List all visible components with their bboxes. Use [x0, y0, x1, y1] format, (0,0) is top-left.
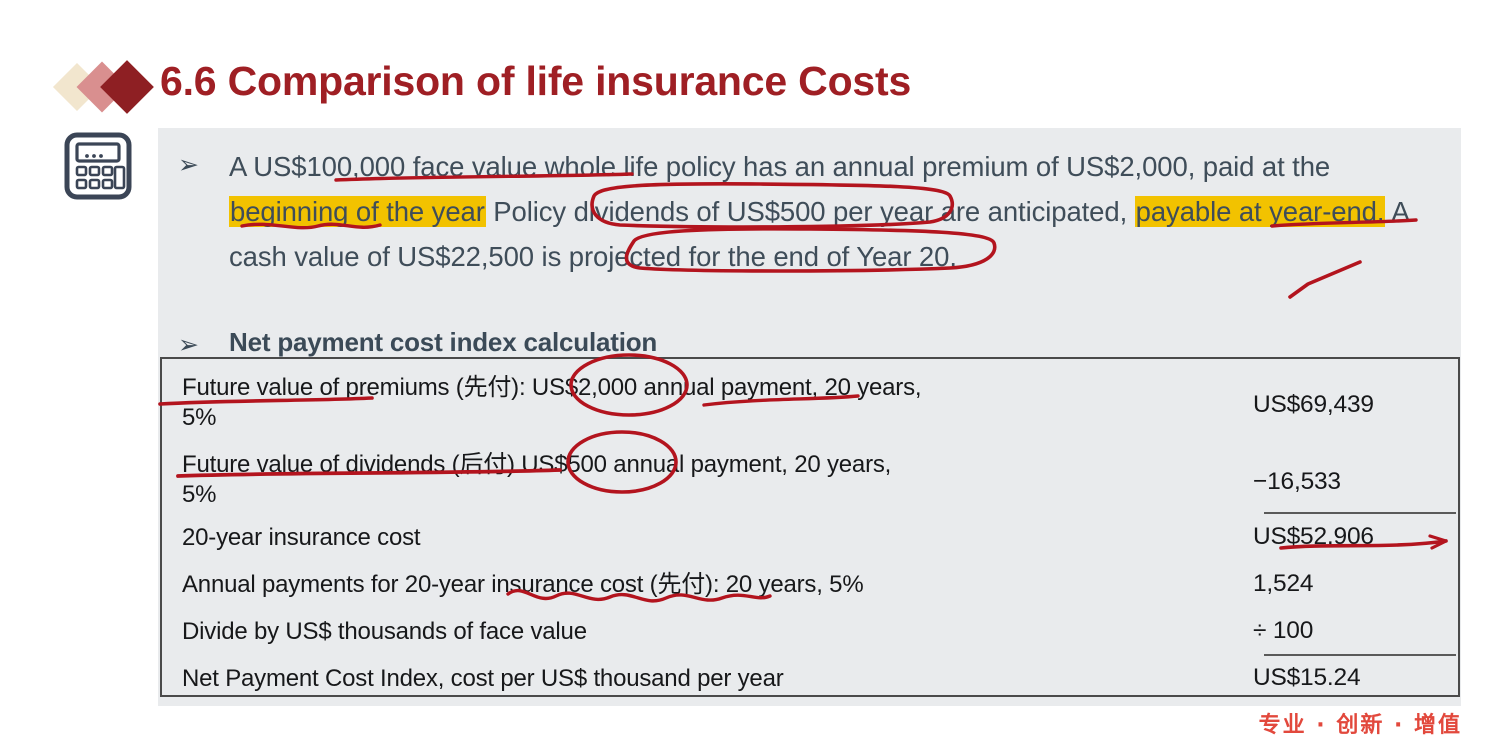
table-row-5-value: ÷ 100: [1217, 617, 1458, 645]
table-rule-2: [1264, 654, 1456, 656]
para-seg-11: US$22,500: [397, 241, 534, 272]
subheading-net-payment-cost-index: Net payment cost index calculation: [229, 327, 657, 358]
para-seg-1: US$100,000 face value: [253, 151, 537, 182]
table-row-5-label: Divide by US$ thousands of face value: [162, 617, 1262, 647]
row2-text-line2: 5%: [182, 481, 216, 508]
calculator-icon: [62, 130, 134, 202]
para-seg-4: , paid at the: [1188, 151, 1330, 182]
table-row: Net Payment Cost Index, cost per US$ tho…: [162, 664, 1458, 694]
table-row-4-label: Annual payments for 20-year insurance co…: [162, 570, 1262, 600]
table-row-6-value: US$15.24: [1217, 664, 1458, 692]
table-row-1-label: Future value of premiums (先付): US$2,000 …: [162, 373, 1262, 433]
row2-text-a: Future value of dividends: [182, 451, 452, 478]
table-row-1-value: US$69,439: [1217, 391, 1458, 419]
table-row: Future value of dividends (后付) US$500 an…: [162, 450, 1458, 510]
row1-text-b: (先付): [456, 374, 519, 401]
table-row: Divide by US$ thousands of face value ÷ …: [162, 617, 1458, 647]
table-row: 20-year insurance cost US$52,906: [162, 523, 1458, 553]
bullet-marker-1: ➢: [178, 150, 199, 180]
para-seg-7: US$500: [727, 196, 826, 227]
para-seg-5-highlight: beginning of the year: [229, 196, 486, 227]
para-seg-2: whole life policy has an annual premium …: [537, 151, 1066, 182]
row1-text-line2: 5%: [182, 404, 216, 431]
table-row-4-value: 1,524: [1217, 570, 1458, 598]
row4-text-c: : 20 years, 5%: [713, 571, 864, 598]
para-seg-6: Policy dividends of: [486, 196, 727, 227]
table-row-3-label: 20-year insurance cost: [162, 523, 1262, 553]
table-row-2-value: −16,533: [1217, 468, 1458, 496]
row1-text-c: : US$2,000 annual payment, 20 years,: [519, 374, 921, 401]
table-row-6-label: Net Payment Cost Index, cost per US$ tho…: [162, 664, 1262, 694]
table-row: Annual payments for 20-year insurance co…: [162, 570, 1458, 600]
row1-text-a: Future value of premiums: [182, 374, 456, 401]
para-seg-9-highlight: payable at year-end.: [1135, 196, 1386, 227]
table-rule-1: [1264, 512, 1456, 514]
cost-index-table: Future value of premiums (先付): US$2,000 …: [160, 357, 1460, 697]
bullet-marker-2: ➢: [178, 330, 199, 360]
footer-slogan: 专业 · 创新 · 增值: [1259, 707, 1462, 739]
table-row-3-value: US$52,906: [1217, 523, 1458, 551]
slide-canvas: 6.6 Comparison of life insurance Costs ➢…: [0, 0, 1500, 750]
row4-text-a: Annual payments for 20-year insurance co…: [182, 571, 650, 598]
row2-text-c: US$500 annual payment, 20 years,: [515, 451, 891, 478]
table-row: Future value of premiums (先付): US$2,000 …: [162, 373, 1458, 433]
para-seg-3: US$2,000: [1066, 151, 1188, 182]
three-diamonds-logo: [48, 56, 168, 118]
intro-paragraph: A US$100,000 face value whole life polic…: [229, 144, 1424, 279]
para-seg-8: per year are anticipated,: [826, 196, 1135, 227]
page-title: 6.6 Comparison of life insurance Costs: [160, 58, 911, 105]
para-seg-12: is projected for the end of Year 20.: [534, 241, 957, 272]
table-row-2-label: Future value of dividends (后付) US$500 an…: [162, 450, 1262, 510]
para-seg-0: A: [229, 151, 253, 182]
row2-text-b: (后付): [452, 451, 515, 478]
row4-text-b: (先付): [650, 571, 713, 598]
